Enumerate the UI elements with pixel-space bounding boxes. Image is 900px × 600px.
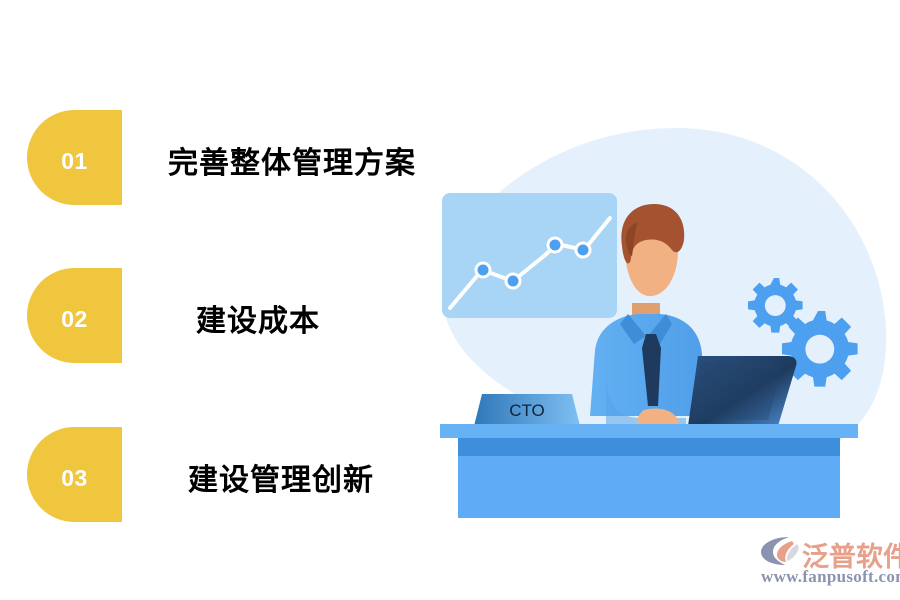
illustration: CTO (420, 118, 890, 518)
step-number: 02 (27, 268, 122, 368)
list-item[interactable]: 03 建设管理创新 (0, 427, 470, 537)
item-label: 建设成本 (196, 268, 320, 368)
step-number: 01 (27, 110, 122, 210)
chart-dot (548, 238, 562, 252)
step-badge: 03 (27, 427, 135, 527)
list-item[interactable]: 02 建设成本 (0, 268, 470, 378)
laptop (688, 356, 797, 426)
step-badge: 02 (27, 268, 135, 368)
brand-mark-icon (759, 535, 803, 567)
item-label: 建设管理创新 (188, 427, 374, 527)
chart-dot (576, 243, 590, 257)
step-badge: 01 (27, 110, 135, 210)
list-item[interactable]: 01 完善整体管理方案 (0, 110, 470, 220)
line-chart-board (442, 193, 617, 318)
item-label: 完善整体管理方案 (168, 110, 416, 210)
nameplate-label: CTO (509, 401, 545, 420)
watermark-logo: 泛普软件 www.fanpusoft.com (757, 533, 897, 595)
nameplate: CTO (474, 394, 580, 426)
chart-dot (476, 263, 490, 277)
step-number: 03 (27, 427, 122, 527)
chart-dot (506, 274, 520, 288)
desk (440, 424, 858, 518)
brand-url: www.fanpusoft.com (761, 567, 900, 587)
slide-canvas: 01 完善整体管理方案 02 建设成本 03 建设管理创新 (0, 0, 900, 600)
illustration-svg: CTO (420, 118, 890, 518)
